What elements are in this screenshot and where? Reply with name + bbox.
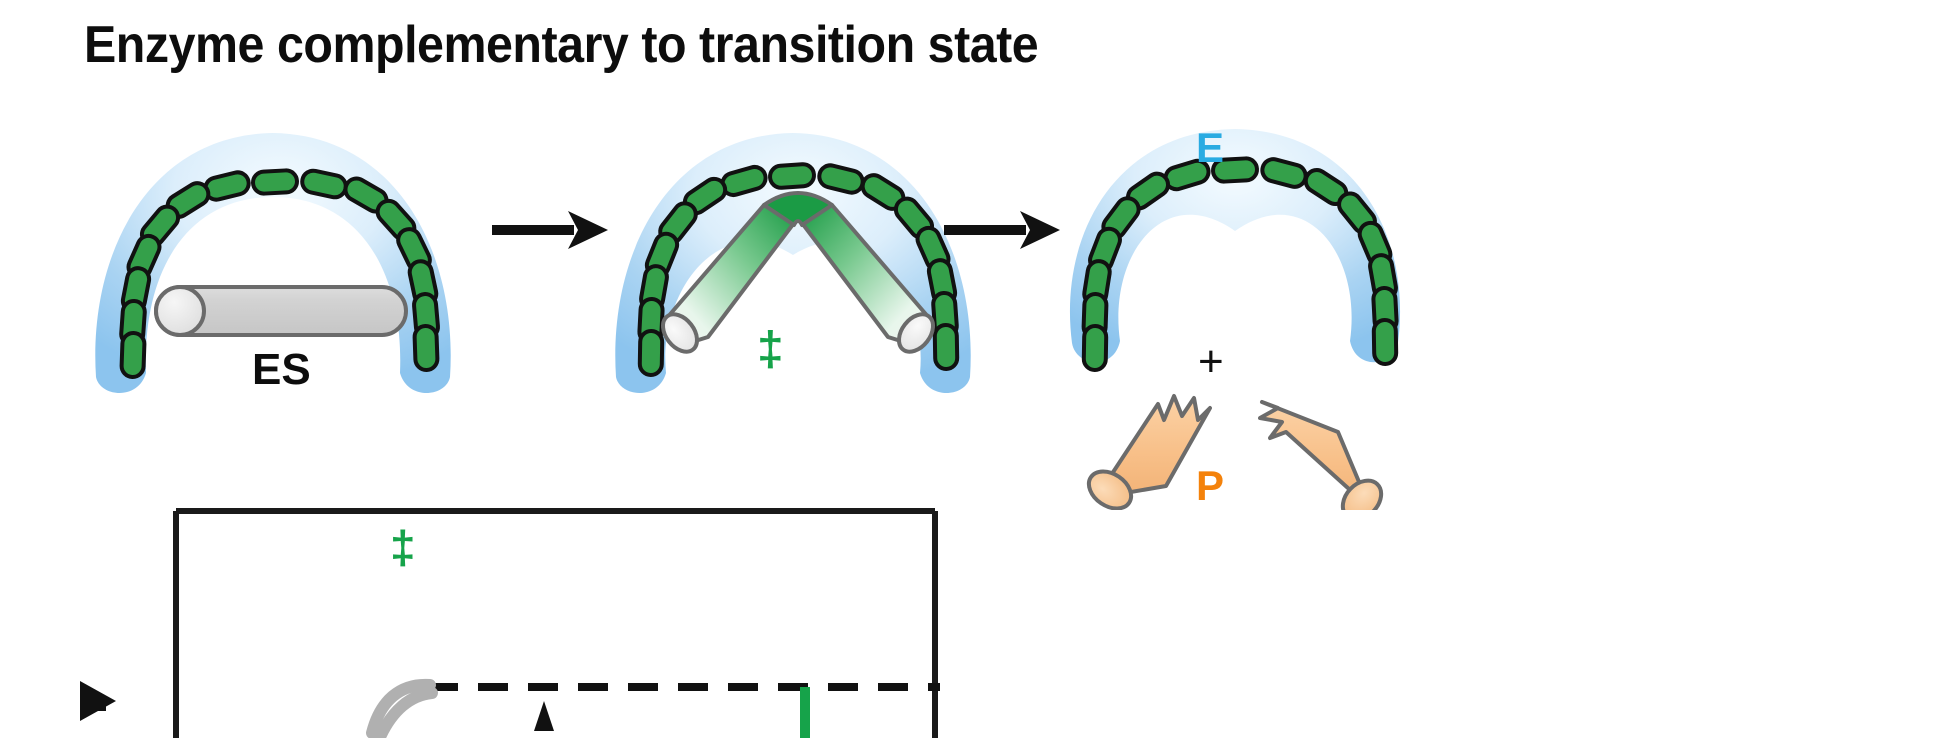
label-free-enzyme: E <box>1196 124 1224 172</box>
arrow-ts-to-ep <box>942 205 1062 255</box>
figure-root: Enzyme complementary to transition state <box>0 0 1956 738</box>
reaction-coordinate-diagram <box>80 505 960 738</box>
transition-state-dagger-label: ‡ <box>757 322 784 377</box>
energy-marker-arrow <box>534 701 554 731</box>
free-enzyme-illustration <box>1050 105 1450 405</box>
substrate-cylinder <box>156 287 406 335</box>
label-product: P <box>1196 462 1224 510</box>
product-fragment-left <box>1082 396 1210 510</box>
reaction-products <box>1070 390 1400 510</box>
product-fragment-right <box>1260 402 1389 510</box>
label-enzyme-substrate: ES <box>252 345 311 395</box>
energy-diagram-dagger-label: ‡ <box>390 520 416 574</box>
energy-diagram-svg <box>80 505 960 738</box>
energy-marker-green <box>800 687 810 738</box>
page-title: Enzyme complementary to transition state <box>84 14 1038 76</box>
product-fragments <box>1070 390 1400 510</box>
axis-arrow-shaft <box>80 701 106 711</box>
panel-free-enzyme <box>1050 105 1450 405</box>
plus-sign: + <box>1198 337 1224 387</box>
arrow-es-to-ts <box>490 205 610 255</box>
